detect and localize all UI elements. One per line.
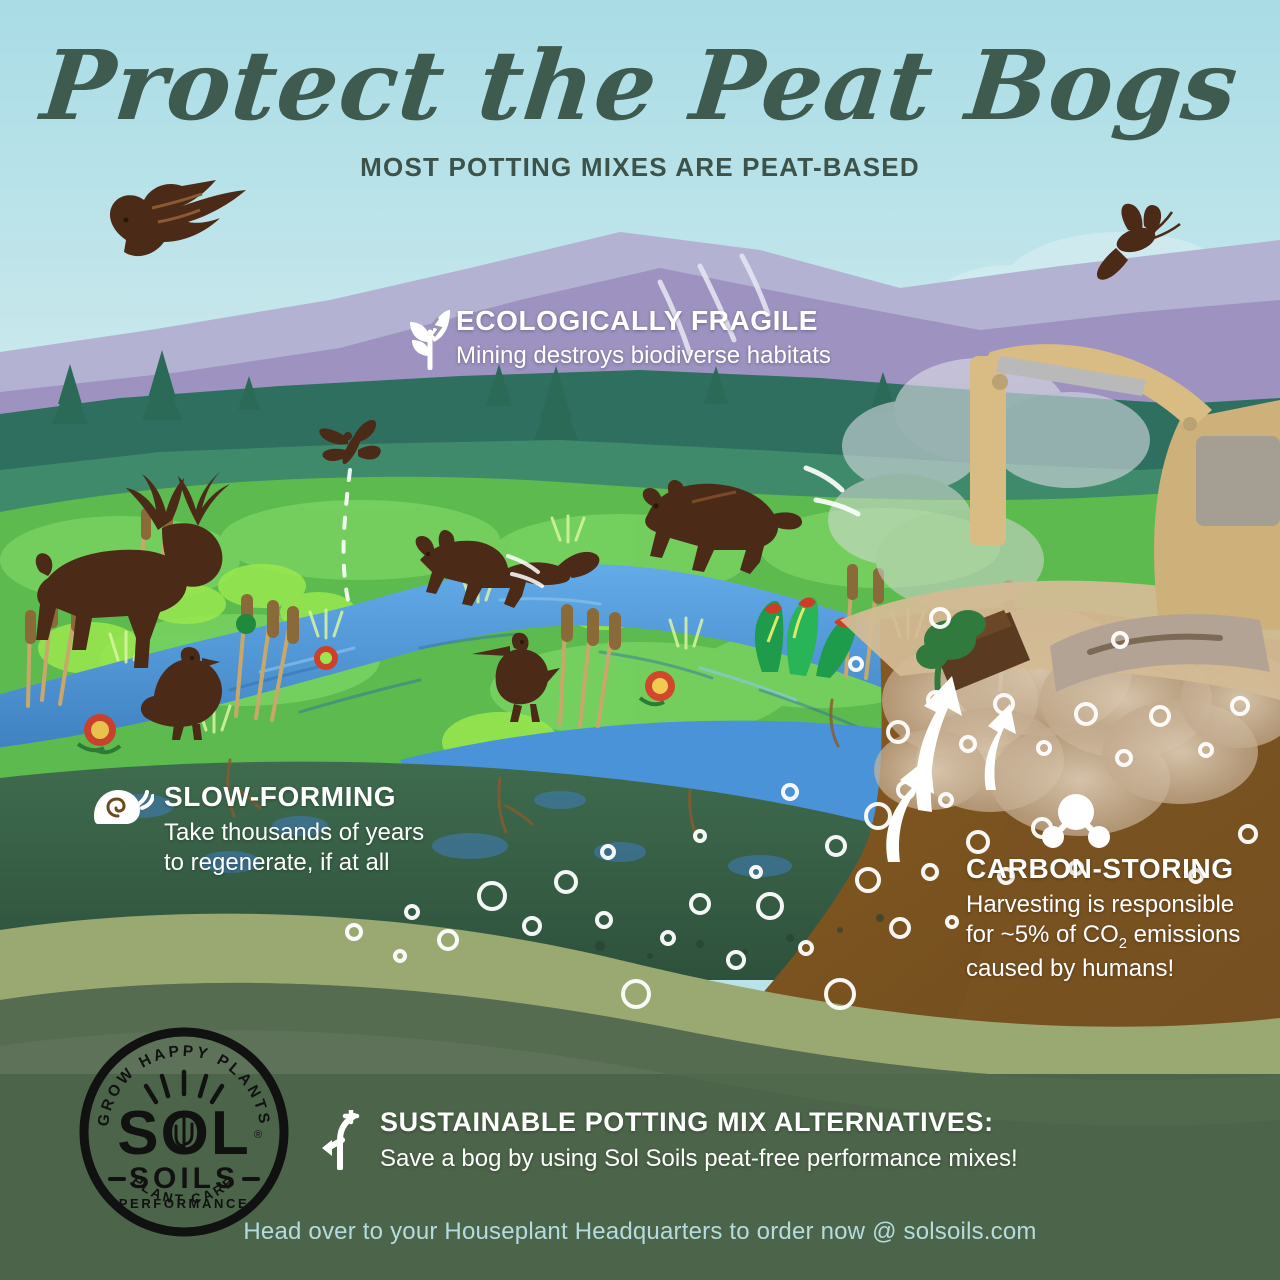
page-title: Protect the Peat Bogs: [0, 36, 1280, 137]
cracked-leaf-sprout-icon: [408, 308, 452, 370]
callout-body: Save a bog by using Sol Soils peat-free …: [380, 1144, 1080, 1174]
molecule-icon: [1040, 792, 1112, 850]
callout-title: CARBON-STORING: [966, 854, 1266, 885]
callout-body-line2: to regenerate, if at all: [164, 848, 492, 878]
callout-body-line2: for ~5% of CO2 emissions: [966, 920, 1266, 954]
callout-title: ECOLOGICALLY FRAGILE: [456, 306, 878, 337]
callout-title: SLOW-FORMING: [164, 782, 492, 813]
callout-body-line3: caused by humans!: [966, 954, 1266, 984]
infographic-poster: Protect the Peat Bogs MOST POTTING MIXES…: [0, 0, 1280, 1280]
sol-soils-logo[interactable]: GROW HAPPY PLANTS SOL ® SOILS PERFORMANC…: [78, 1026, 290, 1238]
callout-carbon-storing: CARBON-STORING Harvesting is responsible…: [966, 792, 1266, 984]
callout-body-line1: Take thousands of years: [164, 818, 492, 848]
snail-icon: [92, 786, 154, 830]
callout-sustainable-alternatives: SUSTAINABLE POTTING MIX ALTERNATIVES: Sa…: [320, 1108, 1080, 1174]
callout-slow-forming: SLOW-FORMING Take thousands of years to …: [92, 782, 492, 878]
logo-registered-mark: ®: [254, 1129, 262, 1141]
co2-prefix: for ~5% of CO: [966, 921, 1119, 948]
callout-body: Mining destroys biodiverse habitats: [456, 341, 878, 371]
co2-subscript: 2: [1119, 936, 1127, 952]
co2-suffix: emissions: [1127, 921, 1240, 948]
callout-body-line1: Harvesting is responsible: [966, 890, 1266, 920]
path-fork-arrow-icon: [320, 1110, 366, 1170]
callout-ecologically-fragile: ECOLOGICALLY FRAGILE Mining destroys bio…: [408, 306, 878, 371]
sun-rays-icon: [146, 1072, 222, 1102]
callout-title: SUSTAINABLE POTTING MIX ALTERNATIVES:: [380, 1108, 1080, 1138]
page-subtitle: MOST POTTING MIXES ARE PEAT-BASED: [0, 152, 1280, 183]
